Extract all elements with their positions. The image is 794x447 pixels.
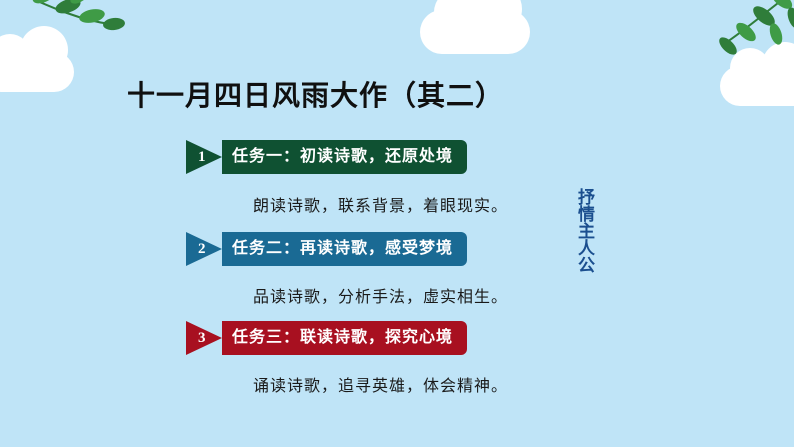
task-label: 任务一：初读诗歌，还原处境 [222,140,467,174]
arrow-marker-icon: 2 [186,232,222,266]
leaf-branch-top-left-icon [18,0,138,69]
leaf-branch-top-right-icon [690,0,794,75]
task-subtext: 诵读诗歌，追寻英雄，体会精神。 [253,372,508,396]
cloud-icon [420,10,530,54]
side-note-text: 抒情主人公 [575,188,597,273]
task-subtext: 朗读诗歌，联系背景，着眼现实。 [253,192,508,216]
task-row[interactable]: 1 任务一：初读诗歌，还原处境 [186,140,467,174]
task-number: 2 [198,232,206,266]
task-label: 任务三：联读诗歌，探究心境 [222,321,467,355]
cloud-lobe [468,0,522,36]
slide-canvas: 十一月四日风雨大作（其二） 1 任务一：初读诗歌，还原处境 朗读诗歌，联系背景，… [0,0,794,447]
page-title: 十一月四日风雨大作（其二） [127,74,504,114]
task-row[interactable]: 2 任务二：再读诗歌，感受梦境 [186,232,467,266]
task-row[interactable]: 3 任务三：联读诗歌，探究心境 [186,321,467,355]
task-number: 1 [198,140,206,174]
arrow-marker-icon: 3 [186,321,222,355]
task-label: 任务二：再读诗歌，感受梦境 [222,232,467,266]
arrow-marker-icon: 1 [186,140,222,174]
task-number: 3 [198,321,206,355]
task-subtext: 品读诗歌，分析手法，虚实相生。 [253,283,508,307]
